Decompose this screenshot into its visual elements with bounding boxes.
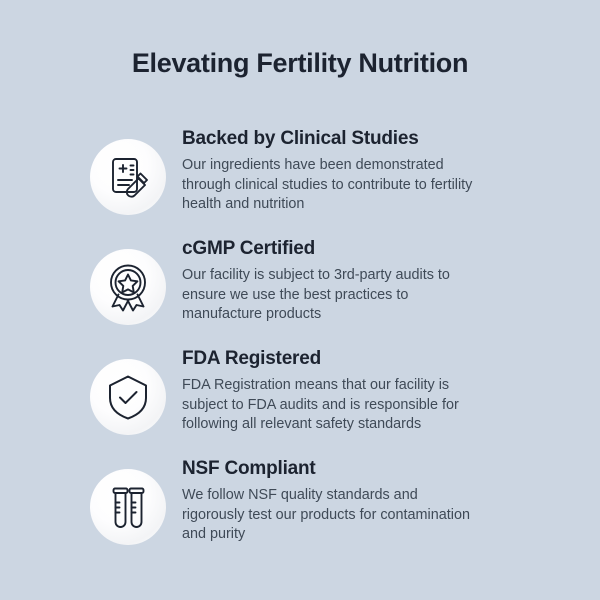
feature-item-cgmp-certified: cGMP Certified Our facility is subject t…	[0, 237, 600, 333]
feature-body: Our facility is subject to 3rd-party aud…	[182, 266, 482, 325]
feature-item-nsf-compliant: NSF Compliant We follow NSF quality stan…	[0, 457, 600, 553]
feature-text: Backed by Clinical Studies Our ingredien…	[182, 127, 600, 215]
feature-list: Backed by Clinical Studies Our ingredien…	[0, 127, 600, 567]
feature-item-fda-registered: FDA Registered FDA Registration means th…	[0, 347, 600, 443]
feature-text: FDA Registered FDA Registration means th…	[182, 347, 600, 435]
feature-body: Our ingredients have been demonstrated t…	[182, 156, 482, 215]
feature-heading: FDA Registered	[182, 347, 584, 371]
promo-panel: Elevating Fertility Nutrition Backed by …	[0, 0, 600, 600]
clipboard-test-tube-icon	[86, 135, 170, 219]
feature-item-clinical-studies: Backed by Clinical Studies Our ingredien…	[0, 127, 600, 223]
feature-heading: Backed by Clinical Studies	[182, 127, 584, 151]
feature-text: NSF Compliant We follow NSF quality stan…	[182, 457, 600, 545]
award-medal-star-icon	[86, 245, 170, 329]
feature-text: cGMP Certified Our facility is subject t…	[182, 237, 600, 325]
feature-body: FDA Registration means that our facility…	[182, 376, 482, 435]
test-tubes-icon	[86, 465, 170, 549]
page-title: Elevating Fertility Nutrition	[0, 46, 600, 80]
feature-heading: NSF Compliant	[182, 457, 584, 481]
feature-heading: cGMP Certified	[182, 237, 584, 261]
shield-check-icon	[86, 355, 170, 439]
feature-body: We follow NSF quality standards and rigo…	[182, 486, 482, 545]
